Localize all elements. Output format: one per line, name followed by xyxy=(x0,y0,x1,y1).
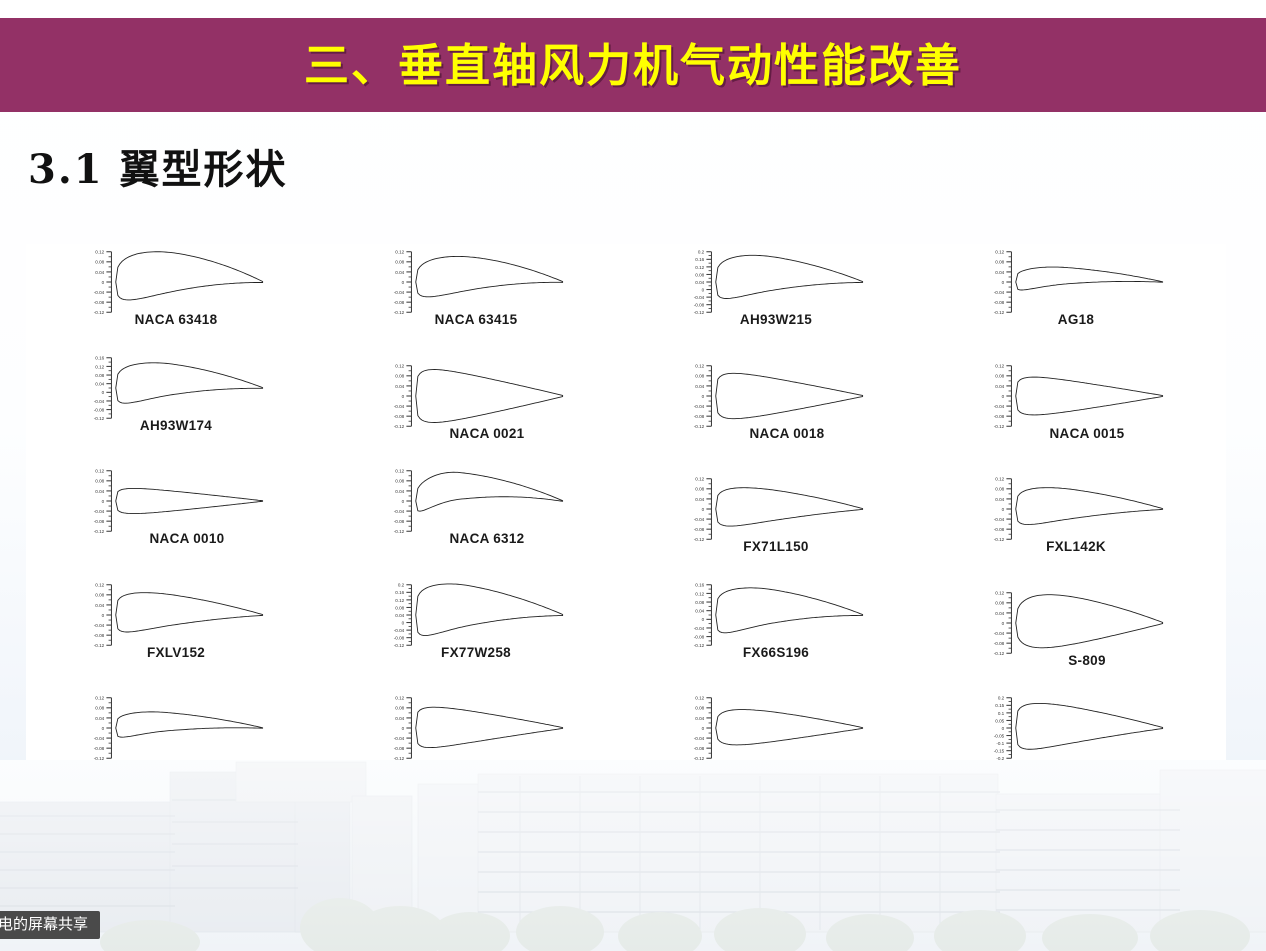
airfoil-label: FXLV152 xyxy=(26,645,326,660)
svg-text:0.04: 0.04 xyxy=(695,280,704,285)
airfoil-cell: 0.120.080.040-0.04-0.08-0.12FXLV152 xyxy=(26,577,326,683)
svg-text:0: 0 xyxy=(102,390,105,395)
svg-text:0.12: 0.12 xyxy=(95,696,104,701)
svg-text:0.04: 0.04 xyxy=(995,270,1004,275)
svg-text:0: 0 xyxy=(402,620,405,625)
airfoil-label: NACA 63418 xyxy=(26,312,326,327)
svg-text:0.15: 0.15 xyxy=(995,704,1004,709)
svg-text:0.12: 0.12 xyxy=(95,582,104,587)
airfoil-plot: 0.20.160.120.080.040-0.04-0.08-0.12 xyxy=(632,246,932,318)
svg-text:-0.08: -0.08 xyxy=(394,300,405,305)
svg-text:0.12: 0.12 xyxy=(695,477,704,482)
airfoil-plot: 0.120.080.040-0.04-0.08-0.12 xyxy=(332,246,632,318)
svg-text:0.16: 0.16 xyxy=(695,582,704,587)
airfoil-grid: 0.120.080.040-0.04-0.08-0.12NACA 634180.… xyxy=(26,244,1226,772)
airfoil-plot: 0.160.120.080.040-0.04-0.08-0.12 xyxy=(32,352,332,424)
airfoil-plot: 0.120.080.040-0.04-0.08-0.12 xyxy=(32,692,332,764)
svg-text:-0.1: -0.1 xyxy=(996,741,1004,746)
svg-text:0.08: 0.08 xyxy=(395,260,404,265)
svg-text:0: 0 xyxy=(102,499,105,504)
airfoil-plot: 0.20.150.10.050-0.05-0.1-0.15-0.2 xyxy=(932,692,1232,764)
svg-text:0.12: 0.12 xyxy=(995,250,1004,255)
airfoil-plot: 0.120.080.040-0.04-0.08-0.12 xyxy=(932,587,1232,659)
airfoil-plot: 0.120.080.040-0.04-0.08-0.12 xyxy=(932,246,1232,318)
svg-text:0.04: 0.04 xyxy=(395,270,404,275)
svg-text:-0.04: -0.04 xyxy=(94,623,105,628)
svg-text:0.12: 0.12 xyxy=(695,363,704,368)
airfoil-label: AG18 xyxy=(926,312,1226,327)
airfoil-label: NACA 0018 xyxy=(626,426,926,441)
airfoil-cell: 0.120.080.040-0.04-0.08-0.12NACA 63415 xyxy=(326,244,626,350)
svg-text:0: 0 xyxy=(1002,507,1005,512)
svg-text:-0.08: -0.08 xyxy=(94,519,105,524)
svg-text:-0.08: -0.08 xyxy=(994,414,1005,419)
svg-text:0: 0 xyxy=(1002,393,1005,398)
airfoil-cell: 0.120.080.040-0.04-0.08-0.12FX71L150 xyxy=(626,471,926,577)
svg-text:-0.08: -0.08 xyxy=(994,527,1005,532)
svg-text:-0.04: -0.04 xyxy=(694,404,705,409)
svg-text:0.16: 0.16 xyxy=(395,590,404,595)
svg-text:-0.04: -0.04 xyxy=(994,517,1005,522)
svg-text:0.08: 0.08 xyxy=(995,373,1004,378)
airfoil-label: NACA 0010 xyxy=(26,531,326,546)
airfoil-plot: 0.120.080.040-0.04-0.08-0.12 xyxy=(932,473,1232,545)
svg-text:0.04: 0.04 xyxy=(695,497,704,502)
airfoil-cell: 0.120.080.040-0.04-0.08-0.12NACA 63418 xyxy=(26,244,326,350)
svg-text:-0.08: -0.08 xyxy=(694,303,705,308)
svg-text:-0.04: -0.04 xyxy=(394,628,405,633)
svg-text:0.08: 0.08 xyxy=(95,479,104,484)
svg-text:0.12: 0.12 xyxy=(995,477,1004,482)
svg-text:0.05: 0.05 xyxy=(995,719,1004,724)
screen-share-badge: 电的屏幕共享 xyxy=(0,911,100,939)
svg-text:-0.08: -0.08 xyxy=(394,635,405,640)
airfoil-cell: 0.120.080.040-0.04-0.08-0.12AG18 xyxy=(926,244,1226,350)
svg-text:0.08: 0.08 xyxy=(995,487,1004,492)
airfoil-plot: 0.120.080.040-0.04-0.08-0.12 xyxy=(332,360,632,432)
airfoil-cell: 0.120.080.040-0.04-0.08-0.12S-809 xyxy=(926,585,1226,691)
svg-text:-0.04: -0.04 xyxy=(394,290,405,295)
airfoil-cell: 0.120.080.040-0.04-0.08-0.12NACA 0010 xyxy=(26,463,326,569)
airfoil-plot: 0.120.080.040-0.04-0.08-0.12 xyxy=(632,473,932,545)
svg-text:0.2: 0.2 xyxy=(998,696,1005,701)
airfoil-label: AH93W174 xyxy=(26,418,326,433)
svg-text:-0.04: -0.04 xyxy=(994,404,1005,409)
svg-text:0.08: 0.08 xyxy=(95,373,104,378)
airfoil-cell: 0.160.120.080.040-0.04-0.08-0.12FX66S196 xyxy=(626,577,926,683)
svg-text:0.12: 0.12 xyxy=(995,363,1004,368)
svg-text:0.04: 0.04 xyxy=(395,383,404,388)
svg-text:0.08: 0.08 xyxy=(95,260,104,265)
svg-text:0.12: 0.12 xyxy=(695,265,704,270)
svg-text:0.08: 0.08 xyxy=(695,373,704,378)
svg-text:-0.08: -0.08 xyxy=(94,407,105,412)
svg-text:0.04: 0.04 xyxy=(695,608,704,613)
svg-text:-0.15: -0.15 xyxy=(994,749,1005,754)
slide-canvas: 三、垂直轴风力机气动性能改善 3.1 翼型形状 0.120.080.040-0.… xyxy=(0,0,1266,951)
svg-text:-0.08: -0.08 xyxy=(394,414,405,419)
svg-text:0: 0 xyxy=(702,393,705,398)
svg-text:0: 0 xyxy=(1002,621,1005,626)
airfoil-plot: 0.120.080.040-0.04-0.08-0.12 xyxy=(32,246,332,318)
svg-text:0.08: 0.08 xyxy=(695,272,704,277)
svg-text:0.12: 0.12 xyxy=(95,364,104,369)
airfoil-plot: 0.120.080.040-0.04-0.08-0.12 xyxy=(32,579,332,651)
airfoil-gallery-panel: 0.120.080.040-0.04-0.08-0.12NACA 634180.… xyxy=(26,244,1226,772)
svg-text:0.04: 0.04 xyxy=(95,270,104,275)
svg-text:0.08: 0.08 xyxy=(995,260,1004,265)
svg-text:0.08: 0.08 xyxy=(395,706,404,711)
svg-text:-0.08: -0.08 xyxy=(694,414,705,419)
svg-text:0: 0 xyxy=(702,617,705,622)
airfoil-label: FXL142K xyxy=(926,539,1226,554)
svg-text:0.16: 0.16 xyxy=(695,257,704,262)
section-heading: 3.1 翼型形状 xyxy=(28,137,288,195)
svg-text:0.12: 0.12 xyxy=(95,250,104,255)
svg-text:-0.08: -0.08 xyxy=(394,519,405,524)
svg-text:0.04: 0.04 xyxy=(995,611,1004,616)
airfoil-plot: 0.120.080.040-0.04-0.08-0.12 xyxy=(632,360,932,432)
svg-text:0.04: 0.04 xyxy=(695,716,704,721)
svg-text:-0.04: -0.04 xyxy=(994,631,1005,636)
svg-text:-0.04: -0.04 xyxy=(694,736,705,741)
svg-text:-0.08: -0.08 xyxy=(94,633,105,638)
airfoil-plot: 0.120.080.040-0.04-0.08-0.12 xyxy=(32,465,332,537)
svg-text:-0.04: -0.04 xyxy=(994,290,1005,295)
airfoil-label: NACA 63415 xyxy=(326,312,626,327)
airfoil-label: S-809 xyxy=(926,653,1226,668)
svg-text:-0.08: -0.08 xyxy=(694,746,705,751)
svg-text:0.12: 0.12 xyxy=(395,696,404,701)
svg-text:0: 0 xyxy=(102,280,105,285)
svg-text:0.12: 0.12 xyxy=(95,469,104,474)
svg-text:0: 0 xyxy=(1002,726,1005,731)
svg-text:0.12: 0.12 xyxy=(395,363,404,368)
svg-text:0.04: 0.04 xyxy=(395,613,404,618)
svg-text:0.08: 0.08 xyxy=(395,479,404,484)
airfoil-cell: 0.20.160.120.080.040-0.04-0.08-0.12AH93W… xyxy=(626,244,926,350)
airfoil-cell: 0.120.080.040-0.04-0.08-0.12FXL142K xyxy=(926,471,1226,577)
svg-text:0: 0 xyxy=(402,499,405,504)
airfoil-plot: 0.120.080.040-0.04-0.08-0.12 xyxy=(632,692,932,764)
airfoil-plot: 0.20.160.120.080.040-0.04-0.08-0.12 xyxy=(332,579,632,651)
svg-text:0.12: 0.12 xyxy=(395,469,404,474)
svg-text:0.12: 0.12 xyxy=(395,598,404,603)
top-white-strip xyxy=(0,0,1266,18)
svg-text:0.16: 0.16 xyxy=(95,355,104,360)
svg-text:0.04: 0.04 xyxy=(95,603,104,608)
svg-text:0: 0 xyxy=(1002,280,1005,285)
svg-text:0.04: 0.04 xyxy=(95,716,104,721)
airfoil-label: NACA 0021 xyxy=(326,426,626,441)
airfoil-cell: 0.20.160.120.080.040-0.04-0.08-0.12FX77W… xyxy=(326,577,626,683)
svg-text:0.04: 0.04 xyxy=(695,383,704,388)
svg-text:-0.04: -0.04 xyxy=(94,398,105,403)
airfoil-cell: 0.120.080.040-0.04-0.08-0.12NACA 0018 xyxy=(626,358,926,464)
svg-text:0.08: 0.08 xyxy=(695,706,704,711)
svg-text:0.08: 0.08 xyxy=(95,593,104,598)
svg-text:-0.04: -0.04 xyxy=(694,517,705,522)
svg-text:-0.08: -0.08 xyxy=(994,300,1005,305)
svg-text:0.08: 0.08 xyxy=(695,600,704,605)
svg-text:0: 0 xyxy=(102,726,105,731)
svg-text:-0.04: -0.04 xyxy=(94,509,105,514)
svg-text:-0.08: -0.08 xyxy=(694,527,705,532)
svg-text:0.12: 0.12 xyxy=(695,591,704,596)
svg-text:0: 0 xyxy=(402,393,405,398)
svg-text:0.04: 0.04 xyxy=(395,489,404,494)
airfoil-label: AH93W215 xyxy=(626,312,926,327)
airfoil-label: FX71L150 xyxy=(626,539,926,554)
svg-text:-0.08: -0.08 xyxy=(394,746,405,751)
svg-text:-0.04: -0.04 xyxy=(94,290,105,295)
svg-text:-0.05: -0.05 xyxy=(994,734,1005,739)
svg-text:0.1: 0.1 xyxy=(998,711,1005,716)
svg-text:0.04: 0.04 xyxy=(395,716,404,721)
airfoil-label: NACA 6312 xyxy=(326,531,626,546)
airfoil-plot: 0.120.080.040-0.04-0.08-0.12 xyxy=(932,360,1232,432)
airfoil-label: FX66S196 xyxy=(626,645,926,660)
svg-text:0: 0 xyxy=(102,613,105,618)
svg-text:0.08: 0.08 xyxy=(395,605,404,610)
svg-text:0: 0 xyxy=(702,287,705,292)
svg-text:-0.08: -0.08 xyxy=(994,641,1005,646)
airfoil-label: FX77W258 xyxy=(326,645,626,660)
svg-text:-0.08: -0.08 xyxy=(94,300,105,305)
slide-title-banner: 三、垂直轴风力机气动性能改善 xyxy=(0,18,1266,112)
svg-text:-0.08: -0.08 xyxy=(94,746,105,751)
airfoil-plot: 0.120.080.040-0.04-0.08-0.12 xyxy=(332,692,632,764)
svg-text:0: 0 xyxy=(702,726,705,731)
svg-text:0.04: 0.04 xyxy=(95,489,104,494)
svg-text:0.2: 0.2 xyxy=(398,582,405,587)
svg-text:0.08: 0.08 xyxy=(95,706,104,711)
airfoil-label: NACA 0015 xyxy=(926,426,1226,441)
svg-text:0: 0 xyxy=(402,726,405,731)
airfoil-plot: 0.160.120.080.040-0.04-0.08-0.12 xyxy=(632,579,932,651)
airfoil-plot: 0.120.080.040-0.04-0.08-0.12 xyxy=(332,465,632,537)
svg-text:0.12: 0.12 xyxy=(695,696,704,701)
svg-text:-0.04: -0.04 xyxy=(394,404,405,409)
svg-text:0.2: 0.2 xyxy=(698,250,705,255)
svg-text:0: 0 xyxy=(702,507,705,512)
svg-text:0.12: 0.12 xyxy=(995,590,1004,595)
svg-text:-0.08: -0.08 xyxy=(694,634,705,639)
airfoil-cell: 0.120.080.040-0.04-0.08-0.12NACA 0021 xyxy=(326,358,626,464)
svg-text:-0.04: -0.04 xyxy=(394,736,405,741)
svg-text:-0.04: -0.04 xyxy=(694,626,705,631)
svg-text:0.04: 0.04 xyxy=(95,381,104,386)
svg-text:0.12: 0.12 xyxy=(395,250,404,255)
svg-text:0: 0 xyxy=(402,280,405,285)
svg-text:0.08: 0.08 xyxy=(995,601,1004,606)
svg-text:-0.04: -0.04 xyxy=(94,736,105,741)
svg-text:-0.04: -0.04 xyxy=(394,509,405,514)
svg-text:0.08: 0.08 xyxy=(395,373,404,378)
svg-text:0.08: 0.08 xyxy=(695,487,704,492)
slide-title: 三、垂直轴风力机气动性能改善 xyxy=(304,43,962,88)
svg-text:0.04: 0.04 xyxy=(995,497,1004,502)
svg-text:0.04: 0.04 xyxy=(995,383,1004,388)
svg-text:-0.04: -0.04 xyxy=(694,295,705,300)
airfoil-cell: 0.120.080.040-0.04-0.08-0.12NACA 0015 xyxy=(926,358,1226,464)
airfoil-cell: 0.160.120.080.040-0.04-0.08-0.12AH93W174 xyxy=(26,350,326,456)
campus-photo-band xyxy=(0,760,1266,951)
airfoil-cell: 0.120.080.040-0.04-0.08-0.12NACA 6312 xyxy=(326,463,626,569)
